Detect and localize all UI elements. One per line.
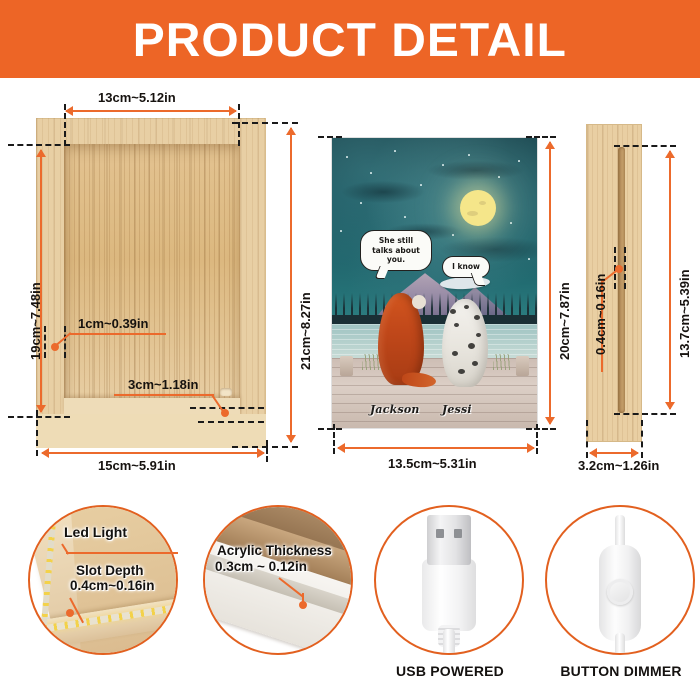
arrow-panel-height [549, 142, 551, 424]
speech-bubble-left: She still talks about you. [360, 230, 432, 271]
dim-slot-width: 0.4cm~0.16in [593, 274, 608, 355]
feature-usb-powered: USB POWERED [374, 505, 534, 680]
feature-circle-usb [374, 505, 524, 655]
speech-bubble-right: I know [442, 256, 490, 278]
acrylic-leader-dot [299, 601, 307, 609]
page-title: PRODUCT DETAIL [133, 16, 567, 63]
slot-depth-dot [66, 609, 74, 617]
arrow-inner-width [66, 110, 236, 112]
grass-left [362, 354, 380, 370]
leader-depth-horiz [114, 394, 214, 396]
leader-depth-dot [221, 409, 229, 417]
treeline [332, 293, 537, 327]
arrow-panel-width [338, 447, 534, 449]
guide-outer-left [36, 410, 38, 456]
feature-circle-acrylic [203, 505, 353, 655]
acrylic-thickness-label: Acrylic Thickness [217, 543, 332, 559]
guide-inner-bottom [8, 416, 70, 418]
dim-frame-border: 1cm~0.39in [78, 316, 148, 331]
artwork-image: She still talks about you. I know Jackso… [332, 138, 537, 428]
wood-inner-cavity [64, 144, 240, 400]
guide-stripw-left [586, 420, 588, 458]
moon-icon [460, 190, 496, 226]
guide-border-inner [64, 326, 66, 358]
feature-button-dimmer: BUTTON DIMMER [545, 505, 700, 680]
slot-depth-value: 0.4cm~0.16in [70, 578, 154, 594]
product-detail-infographic: PRODUCT DETAIL 13cm~5.12in 19cm~7.48in 2… [0, 0, 700, 700]
arrow-slot-length [669, 151, 671, 409]
usb-connector-metal [427, 515, 471, 565]
guide-slotw-right [624, 247, 626, 289]
feature-led-light: Led Light Slot Depth 0.4cm~0.16in [28, 505, 188, 665]
usb-cable [443, 629, 455, 655]
usb-contact-left [436, 529, 444, 538]
leader-border-horiz [70, 333, 166, 335]
dim-inner-height: 19cm~7.48in [28, 282, 43, 360]
guide-outer-top [232, 122, 298, 124]
arrow-outer-width [42, 452, 264, 454]
pet-name-left: Jackson [370, 403, 420, 416]
button-dimmer-caption: BUTTON DIMMER [541, 663, 700, 679]
dimmer-cord-bottom [615, 633, 625, 655]
wood-bottom-rail [36, 414, 266, 448]
guide-panel-top-right [526, 136, 556, 138]
guide-stripw-right [641, 420, 643, 458]
arrow-strip-width [590, 452, 638, 454]
leader-border-dot [51, 343, 59, 351]
feature-acrylic-thickness: Acrylic Thickness 0.3cm ~ 0.12in [203, 505, 363, 665]
dim-slot-length: 13.7cm~5.39in [677, 269, 692, 358]
guide-slot-top [614, 145, 676, 147]
wooden-box-image [36, 118, 266, 448]
dim-base-depth: 3cm~1.18in [128, 377, 198, 392]
dock-post-left [340, 356, 353, 376]
dock-post-right [516, 356, 529, 376]
led-leader-horiz [66, 552, 178, 554]
dim-outer-height: 21cm~8.27in [298, 292, 313, 370]
dim-outer-width: 15cm~5.91in [98, 458, 176, 473]
header-banner: PRODUCT DETAIL [0, 0, 700, 78]
leader-slotw-dot [615, 265, 623, 273]
guide-outer-bottom [232, 446, 298, 448]
wood-inner-grain [64, 144, 240, 400]
guide-panel-bottom-left [318, 428, 342, 430]
dog-ear [412, 295, 426, 309]
usb-powered-caption: USB POWERED [370, 663, 530, 679]
slot-depth-label: Slot Depth [76, 563, 144, 579]
guide-depth-bottom [198, 421, 264, 423]
guide-panel-top-left [318, 136, 342, 138]
usb-contact-right [454, 529, 462, 538]
guide-border-outer [44, 326, 46, 358]
feature-circle-dimmer [545, 505, 695, 655]
dimmer-push-button[interactable] [607, 579, 633, 605]
guide-panel-left [333, 424, 335, 454]
dim-strip-width: 3.2cm~1.26in [578, 458, 659, 473]
dim-panel-height: 20cm~7.87in [557, 282, 572, 360]
arrow-outer-height [290, 128, 292, 442]
led-light-label: Led Light [64, 524, 127, 541]
dalmatian-dog [442, 299, 488, 387]
grass-right [493, 354, 511, 370]
guide-slot-bottom [614, 413, 676, 415]
golden-retriever-dog [378, 293, 424, 385]
pet-name-right: Jessi [442, 403, 472, 416]
guide-inner-top [8, 144, 70, 146]
dim-panel-width: 13.5cm~5.31in [388, 456, 477, 471]
guide-outer-right [266, 440, 268, 462]
arrow-inner-height [40, 150, 42, 412]
acrylic-thickness-value: 0.3cm ~ 0.12in [215, 559, 307, 575]
dim-inner-width: 13cm~5.12in [98, 90, 176, 105]
guide-inner-right [238, 104, 240, 146]
cord-notch [220, 388, 232, 396]
usb-connector-shell [422, 559, 476, 631]
guide-panel-bottom-right [526, 428, 556, 430]
guide-panel-right [536, 424, 538, 454]
